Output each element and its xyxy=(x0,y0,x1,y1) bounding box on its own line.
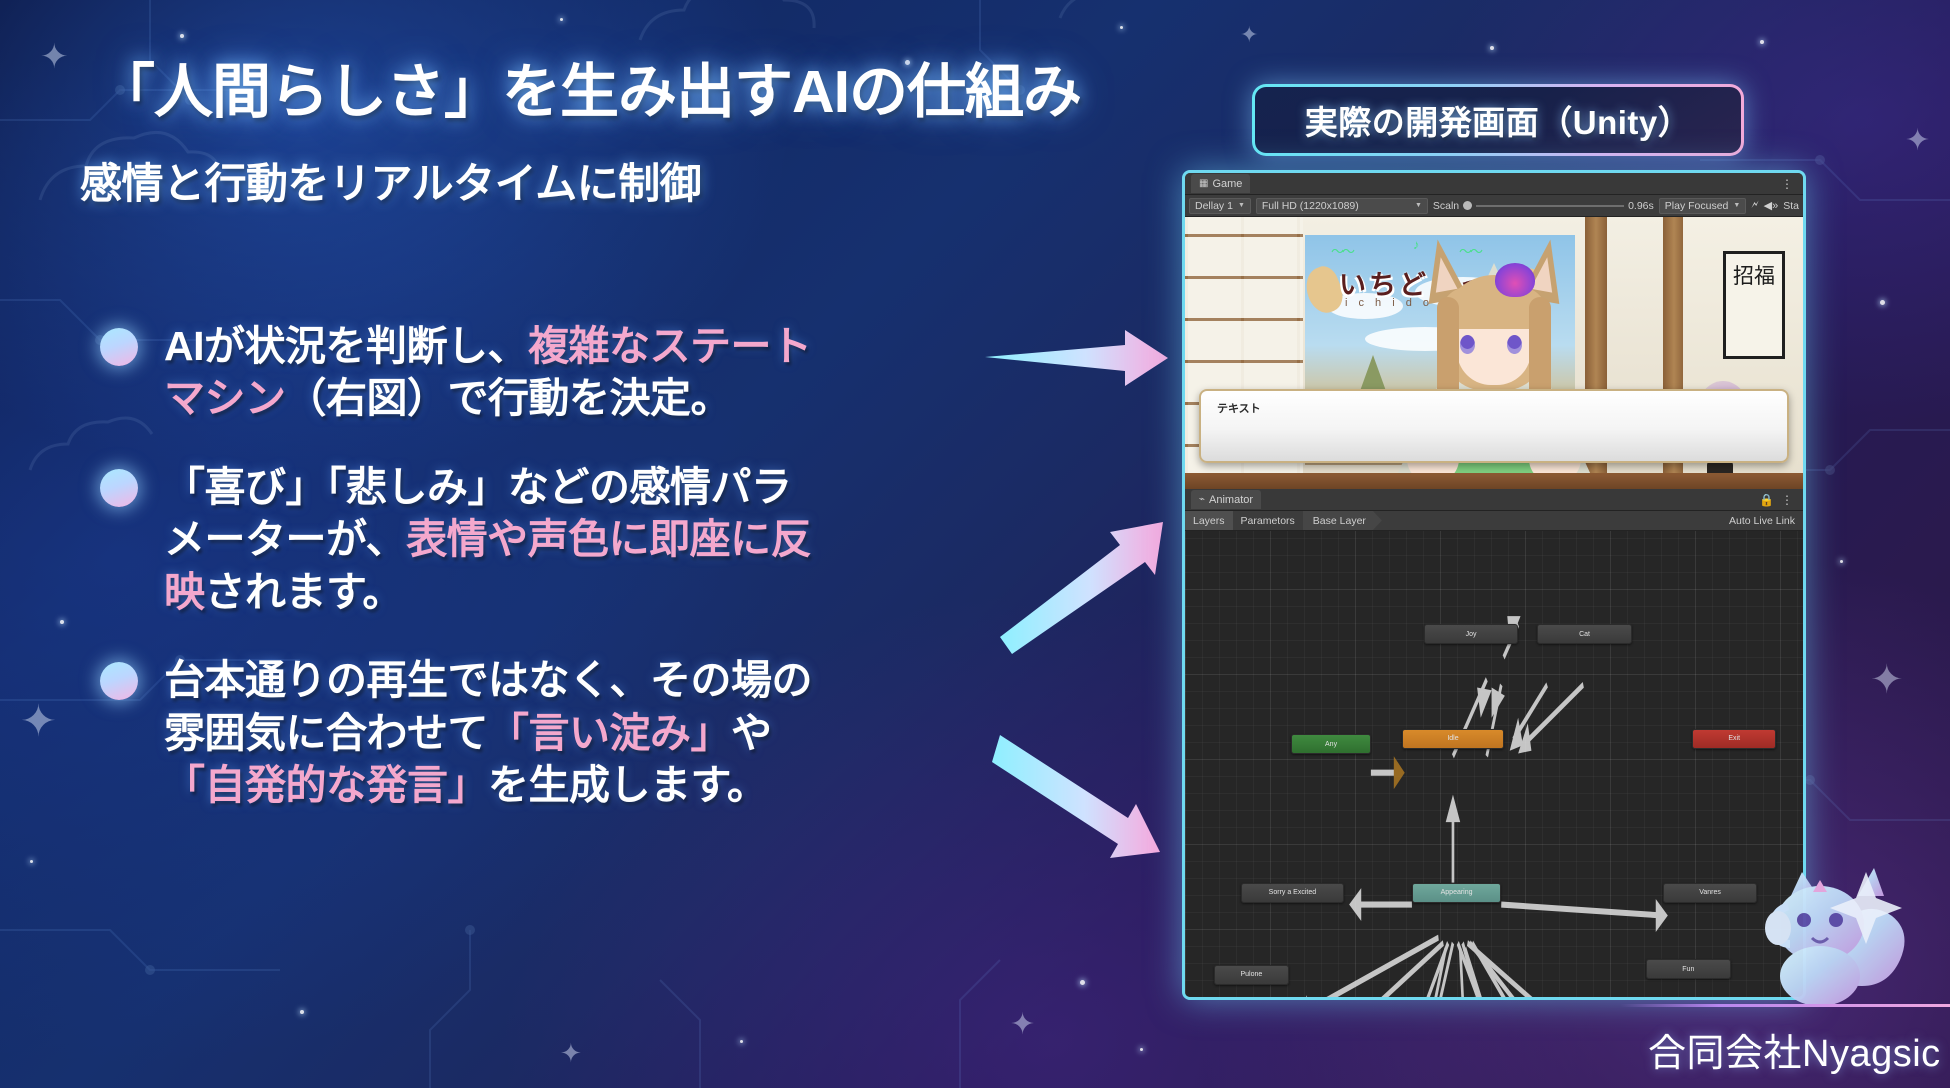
bullet-line: AIが状況を判断し、複雑なステート xyxy=(164,320,976,372)
unity-screen-badge: 実際の開発画面（Unity） xyxy=(1252,84,1744,156)
sparkle-icon: ✦ xyxy=(1010,1010,1035,1040)
bullet-line: 「自発的な発言」を生成します。 xyxy=(164,759,976,811)
bullet-highlight-text: 「自発的な発言」 xyxy=(164,762,488,808)
bullet-item: AIが状況を判断し、複雑なステートマシン（右図）で行動を決定。 xyxy=(96,320,976,425)
bullet-item: 台本通りの再生ではなく、その場の雰囲気に合わせて「言い淀み」や「自発的な発言」を… xyxy=(96,654,976,811)
state-node[interactable]: Sorry a Excited xyxy=(1241,883,1345,903)
state-node[interactable]: Pulone xyxy=(1214,965,1289,985)
bullet-line: 雰囲気に合わせて「言い淀み」や xyxy=(164,707,976,759)
bullet-highlight-text: 「言い淀み」 xyxy=(488,710,731,756)
play-mode-dropdown[interactable]: Play Focused ▼ xyxy=(1659,198,1747,214)
sparkle-icon: ✦ xyxy=(40,40,69,74)
state-node[interactable]: Idle xyxy=(1402,729,1503,749)
slider-knob[interactable] xyxy=(1463,201,1472,210)
bullet-dot-icon xyxy=(100,328,138,366)
bullet-text: （右図）で行動を決定。 xyxy=(286,375,732,421)
display-value: Dellay 1 xyxy=(1195,200,1233,212)
bullet-highlight-text: 複雑なステート xyxy=(528,323,812,369)
play-mode-value: Play Focused xyxy=(1665,200,1729,212)
bullet-highlight-text: 映 xyxy=(164,569,205,615)
auto-live-link-toggle[interactable]: Auto Live Link xyxy=(1729,515,1803,527)
bullet-text: 雰囲気に合わせて xyxy=(164,710,488,756)
waveform-icon: 〜〜 xyxy=(1331,241,1353,260)
stats-button[interactable]: Sta xyxy=(1783,200,1799,212)
badge-inner: 実際の開発画面（Unity） xyxy=(1255,87,1741,153)
sparkle-icon: ✦ xyxy=(1870,660,1904,700)
page-subtitle: 感情と行動をリアルタイムに制御 xyxy=(80,150,701,211)
chevron-down-icon: ▼ xyxy=(1733,202,1740,209)
tab-animator[interactable]: ⌁ Animator xyxy=(1191,490,1261,509)
animator-icon: ⌁ xyxy=(1199,494,1205,505)
scene-table xyxy=(1185,473,1803,489)
sparkle-icon: ✦ xyxy=(1905,126,1930,156)
bullet-highlight-text: マシン xyxy=(164,375,286,421)
hair-flower xyxy=(1495,263,1535,297)
bullet-dot-icon xyxy=(100,469,138,507)
bullet-list: AIが状況を判断し、複雑なステートマシン（右図）で行動を決定。「喜び」「悲しみ」… xyxy=(96,320,976,848)
display-dropdown[interactable]: Dellay 1 ▼ xyxy=(1189,198,1251,214)
tab-animator-label: Animator xyxy=(1209,494,1253,506)
kakejiku-frame: 招福 xyxy=(1723,251,1785,359)
tab-layers[interactable]: Layers xyxy=(1185,511,1233,530)
kebab-menu-icon[interactable]: ⋮ xyxy=(1781,493,1797,507)
chevron-down-icon: ▼ xyxy=(1238,202,1245,209)
scale-label: Scaln xyxy=(1433,200,1459,212)
sparkle-icon: ✦ xyxy=(20,700,57,744)
dialogue-label: テキスト xyxy=(1217,400,1261,416)
dialogue-box[interactable]: テキスト xyxy=(1199,389,1789,463)
bullet-dot-icon xyxy=(100,662,138,700)
state-node[interactable]: Joy xyxy=(1424,624,1518,644)
kakejiku-text: 招福 xyxy=(1726,264,1782,288)
character-eye-left xyxy=(1460,335,1475,354)
ear-inner xyxy=(1531,255,1559,292)
breadcrumb-label: Base Layer xyxy=(1313,515,1366,527)
bullet-line: 台本通りの再生ではなく、その場の xyxy=(164,654,976,706)
game-view[interactable]: 〜〜 ♪ 〜〜 いちどりっこ i c h i d o r i k k o 招福 xyxy=(1185,217,1803,489)
bullet-text: 「喜び」「悲しみ」などの感情パラ xyxy=(164,464,792,510)
animator-state-graph[interactable]: JoyCatAnyIdleExitSorry a ExcitedAppearin… xyxy=(1185,531,1803,1000)
slide-root: ✦ ✦ ✦ ✦ ✦ ✦ ✦ 「人間らしさ」を生み出すAIの仕組み 感情と行動をリ… xyxy=(0,0,1950,1088)
state-node[interactable]: Any xyxy=(1291,734,1371,754)
arrow-icon xyxy=(985,330,1168,858)
bullet-text: AIが状況を判断し、 xyxy=(164,323,528,369)
unity-editor-window: ▦ Game ⋮ Dellay 1 ▼ Full HD (1220x1089) … xyxy=(1182,170,1806,1000)
bullet-line: 映されます。 xyxy=(164,566,976,618)
sparkle-icon: ✦ xyxy=(560,1040,582,1066)
bullet-text: 台本通りの再生ではなく、その場の xyxy=(164,657,812,703)
bullet-line: 「喜び」「悲しみ」などの感情パラ xyxy=(164,461,976,513)
tab-game-label: Game xyxy=(1212,178,1242,190)
bullet-text: を生成します。 xyxy=(488,762,767,808)
bullet-text: メーターが、 xyxy=(164,516,406,562)
badge-label: 実際の開発画面（Unity） xyxy=(1305,96,1692,144)
ear-inner xyxy=(1430,255,1458,292)
resolution-value: Full HD (1220x1089) xyxy=(1262,200,1359,212)
page-title: 「人間らしさ」を生み出すAIの仕組み xyxy=(96,44,1081,129)
grid-icon: ▦ xyxy=(1199,178,1208,189)
tab-layers-label: Layers xyxy=(1193,515,1225,527)
state-node-layer: JoyCatAnyIdleExitSorry a ExcitedAppearin… xyxy=(1185,531,1803,1000)
state-node[interactable]: Exit xyxy=(1692,729,1776,749)
breadcrumb[interactable]: Base Layer xyxy=(1303,511,1382,530)
tab-parameters-label: Parametors xyxy=(1241,515,1295,527)
game-toolbar: Dellay 1 ▼ Full HD (1220x1089) ▼ Scaln 0… xyxy=(1185,195,1803,217)
lock-icon[interactable]: 🔒 xyxy=(1759,493,1781,507)
bullet-line: マシン（右図）で行動を決定。 xyxy=(164,372,976,424)
animator-panel-tabbar: ⌁ Animator 🔒 ⋮ xyxy=(1185,489,1803,511)
state-node[interactable]: Appearing xyxy=(1412,883,1501,903)
animator-toolbar: Layers Parametors Base Layer Auto Live L… xyxy=(1185,511,1803,531)
watermark-text: 合同会社Nyagsic xyxy=(1648,1022,1941,1077)
game-panel-tabbar: ▦ Game ⋮ xyxy=(1185,173,1803,195)
character-eye-right xyxy=(1507,335,1522,354)
scale-slider[interactable]: Scaln 0.96s xyxy=(1433,200,1654,212)
sparkle-icon: ✦ xyxy=(1240,24,1258,46)
mute-audio-icon[interactable]: ◀» xyxy=(1764,199,1779,212)
tab-game[interactable]: ▦ Game xyxy=(1191,174,1250,193)
mascot-logo-icon xyxy=(1716,836,1906,1026)
chevron-down-icon: ▼ xyxy=(1415,202,1422,209)
scale-value: 0.96s xyxy=(1628,200,1654,212)
bullet-highlight-text: 表情や声色に即座に反 xyxy=(406,516,811,562)
tab-parameters[interactable]: Parametors xyxy=(1233,511,1303,530)
bullet-item: 「喜び」「悲しみ」などの感情パラメーターが、表情や声色に即座に反映されます。 xyxy=(96,461,976,618)
kebab-menu-icon[interactable]: ⋮ xyxy=(1781,177,1797,191)
resolution-dropdown[interactable]: Full HD (1220x1089) ▼ xyxy=(1256,198,1428,214)
bullet-text: されます。 xyxy=(205,569,403,615)
effects-icon[interactable]: 🗲 xyxy=(1751,199,1758,212)
bullet-text: や xyxy=(731,710,772,756)
bullet-line: メーターが、表情や声色に即座に反 xyxy=(164,513,976,565)
watermark-divider xyxy=(1620,1004,1950,1007)
state-node[interactable]: Cat xyxy=(1537,624,1631,644)
slider-track[interactable] xyxy=(1476,205,1624,207)
